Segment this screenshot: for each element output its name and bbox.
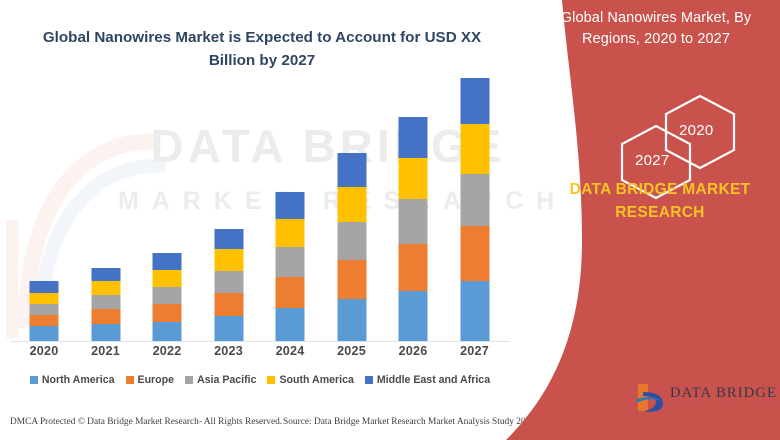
bar-segment [214, 229, 243, 250]
infographic-canvas: DATA BRIDGE MARKET RESEARCH Global Nanow… [0, 0, 780, 440]
bar-segment [337, 153, 366, 187]
legend-item[interactable]: Middle East and Africa [365, 374, 490, 386]
bar-column-2020 [14, 60, 74, 341]
data-bridge-logo: DATA BRIDGE MARKET RESEARCH [634, 381, 774, 421]
bar-segment [460, 124, 489, 173]
stacked-bar[interactable] [276, 192, 305, 341]
stacked-bar[interactable] [153, 253, 182, 341]
bar-group [0, 60, 520, 341]
bar-segment [276, 277, 305, 308]
logo-wordmark: DATA BRIDGE [670, 385, 777, 402]
bar-segment [276, 247, 305, 277]
bar-segment [337, 222, 366, 260]
bar-segment [91, 268, 120, 282]
bar-column-2026 [383, 60, 443, 341]
legend-label: Europe [138, 374, 175, 386]
legend-label: North America [42, 374, 115, 386]
bar-column-2025 [322, 60, 382, 341]
stacked-bar[interactable] [460, 78, 489, 341]
legend-swatch-icon [185, 376, 193, 384]
bar-segment [30, 304, 59, 314]
bar-segment [214, 316, 243, 341]
panel-brand: DATA BRIDGE MARKET RESEARCH [545, 178, 775, 225]
bar-segment [337, 260, 366, 299]
bar-segment [91, 295, 120, 309]
x-axis-label-2025: 2025 [322, 344, 382, 358]
bar-segment [91, 309, 120, 324]
bar-segment [276, 308, 305, 341]
footer-copyright: DMCA Protected © Data Bridge Market Rese… [10, 417, 282, 427]
panel-title: Global Nanowires Market, By Regions, 202… [542, 8, 770, 50]
legend-label: South America [279, 374, 353, 386]
x-axis-label-2024: 2024 [260, 344, 320, 358]
right-brand-panel: Global Nanowires Market, By Regions, 202… [490, 0, 780, 440]
bar-segment [214, 293, 243, 316]
legend-label: Middle East and Africa [377, 374, 490, 386]
bar-segment [91, 281, 120, 295]
stacked-bar[interactable] [91, 268, 120, 341]
legend-swatch-icon [30, 376, 38, 384]
bar-segment [399, 244, 428, 291]
legend-swatch-icon [267, 376, 275, 384]
stacked-bar[interactable] [337, 153, 366, 341]
bar-segment [153, 304, 182, 321]
bar-segment [460, 281, 489, 341]
x-axis-label-2020: 2020 [14, 344, 74, 358]
bar-segment [153, 253, 182, 270]
x-axis-label-2026: 2026 [383, 344, 443, 358]
bar-column-2021 [76, 60, 136, 341]
stacked-bar[interactable] [30, 281, 59, 341]
hexagon-label-2027: 2027 [635, 152, 670, 169]
legend-item[interactable]: Europe [126, 374, 175, 386]
bar-segment [91, 324, 120, 341]
chart-plot-area [0, 60, 520, 342]
bar-column-2022 [137, 60, 197, 341]
bar-segment [30, 326, 59, 341]
bar-segment [276, 219, 305, 247]
axis-baseline [10, 341, 510, 342]
bar-segment [399, 117, 428, 157]
bar-segment [214, 249, 243, 271]
bar-segment [214, 271, 243, 293]
legend-label: Asia Pacific [197, 374, 256, 386]
legend-item[interactable]: North America [30, 374, 115, 386]
hexagon-label-2020: 2020 [679, 122, 714, 139]
legend-item[interactable]: Asia Pacific [185, 374, 256, 386]
bar-segment [276, 192, 305, 220]
bar-segment [153, 322, 182, 341]
legend-item[interactable]: South America [267, 374, 353, 386]
bar-segment [460, 226, 489, 281]
bar-segment [30, 293, 59, 304]
stacked-bar[interactable] [399, 117, 428, 341]
chart-legend: North AmericaEuropeAsia PacificSouth Ame… [0, 374, 520, 386]
bar-segment [30, 315, 59, 326]
bar-segment [337, 299, 366, 341]
bar-segment [460, 174, 489, 227]
bar-segment [399, 291, 428, 341]
logo-tagline: MARKET RESEARCH [671, 402, 780, 409]
x-axis-label-2022: 2022 [137, 344, 197, 358]
bar-column-2023 [199, 60, 259, 341]
stacked-bar[interactable] [214, 229, 243, 341]
panel-brand-line-1: DATA BRIDGE MARKET [570, 181, 751, 198]
bar-column-2024 [260, 60, 320, 341]
bar-segment [30, 281, 59, 292]
bar-segment [460, 78, 489, 124]
panel-brand-line-2: RESEARCH [615, 204, 704, 221]
data-bridge-mark-icon [634, 381, 668, 415]
x-axis-label-2021: 2021 [76, 344, 136, 358]
x-axis-label-2023: 2023 [199, 344, 259, 358]
bar-segment [337, 187, 366, 221]
x-axis-labels: 20202021202220232024202520262027 [0, 344, 520, 364]
bar-segment [399, 158, 428, 199]
bar-segment [153, 287, 182, 304]
legend-swatch-icon [365, 376, 373, 384]
bar-segment [153, 270, 182, 287]
legend-swatch-icon [126, 376, 134, 384]
bar-segment [399, 199, 428, 244]
